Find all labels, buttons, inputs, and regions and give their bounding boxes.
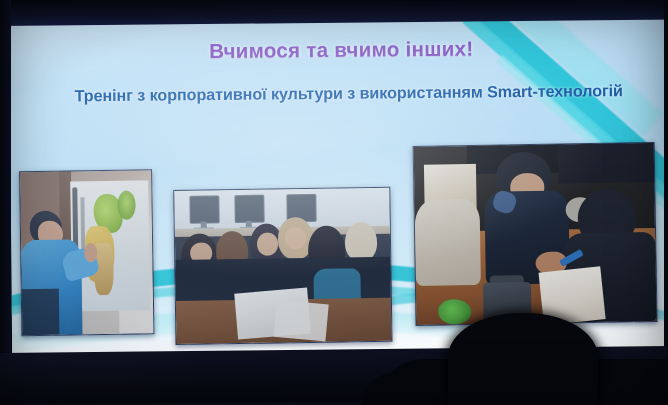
room-dark-right-border [664, 0, 668, 405]
slide-photo-table-workshop [413, 142, 658, 326]
audience-silhouette-head [448, 313, 598, 405]
room-dark-left-border [0, 0, 11, 405]
slide-photo-computer-lab [173, 187, 392, 345]
photo-of-projection-screen: Вчимося та вчимо інших! Тренінг з корпор… [0, 0, 668, 405]
slide-photo-whiteboard [19, 169, 154, 336]
presentation-slide: Вчимося та вчимо інших! Тренінг з корпор… [9, 14, 668, 360]
